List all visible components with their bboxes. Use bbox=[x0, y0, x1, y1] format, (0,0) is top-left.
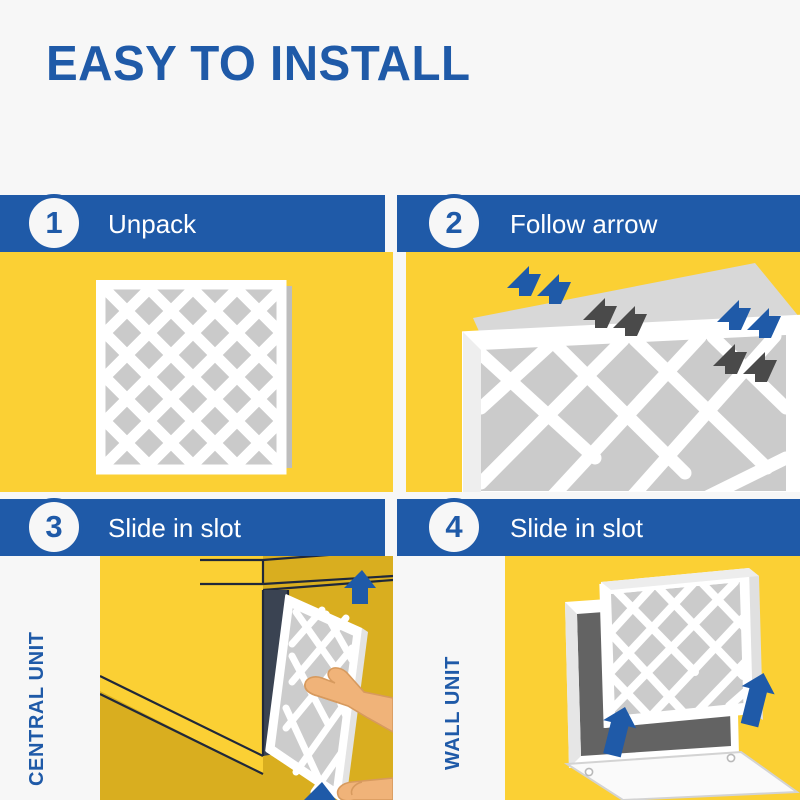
step-1-number: 1 bbox=[45, 205, 62, 241]
step-1-badge: 1 bbox=[25, 194, 83, 252]
step-4-number: 4 bbox=[445, 509, 462, 545]
arrow-blue-left-1 bbox=[507, 266, 541, 296]
step-2-label: Follow arrow bbox=[510, 209, 657, 240]
step-3-number: 3 bbox=[45, 509, 62, 545]
step-1-illustration bbox=[96, 280, 296, 475]
step-1-label: Unpack bbox=[108, 209, 196, 240]
page-title: EASY TO INSTALL bbox=[46, 36, 471, 92]
step-3-vertical-label: CENTRAL UNIT bbox=[26, 631, 49, 786]
easy-to-install-infographic: EASY TO INSTALL Unpack 1 bbox=[0, 0, 800, 800]
step-4-illustration bbox=[505, 556, 800, 800]
step-2-illustration bbox=[455, 258, 800, 498]
step-3-illustration bbox=[100, 556, 393, 800]
step-2-number: 2 bbox=[445, 205, 462, 241]
step-3-label: Slide in slot bbox=[108, 513, 241, 544]
step-4-vertical-label: WALL UNIT bbox=[442, 656, 465, 770]
step-4-label: Slide in slot bbox=[510, 513, 643, 544]
step-4-badge: 4 bbox=[425, 498, 483, 556]
step-2-badge: 2 bbox=[425, 194, 483, 252]
arrow-blue-left-2 bbox=[537, 274, 571, 304]
step-3-badge: 3 bbox=[25, 498, 83, 556]
filter-panel-insert bbox=[601, 568, 763, 728]
